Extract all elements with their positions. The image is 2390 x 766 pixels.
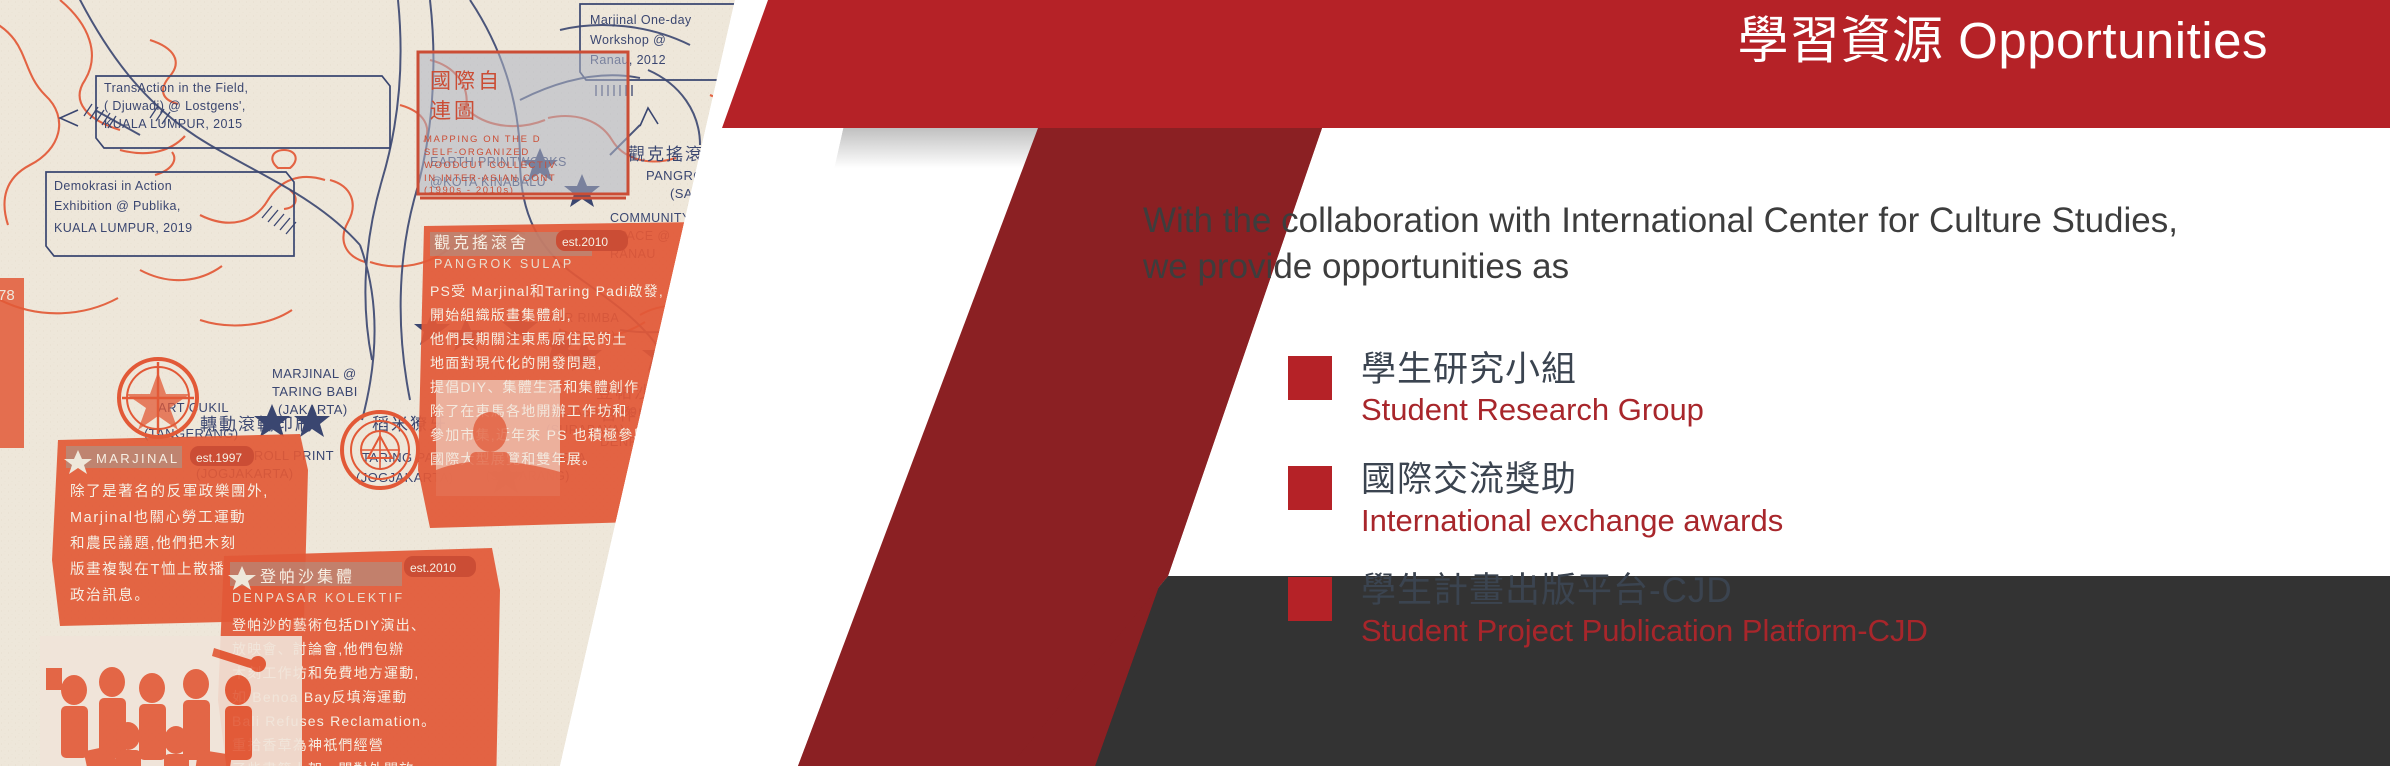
- list-item-label-en: International exchange awards: [1361, 502, 1783, 539]
- intro-line-1: With the collaboration with Internationa…: [1143, 198, 2323, 244]
- intro-paragraph: With the collaboration with Internationa…: [1143, 198, 2323, 290]
- page-title: 學習資源 Opportunities: [1737, 12, 2268, 71]
- list-item-label-zh: 學生研究小組: [1361, 350, 1704, 389]
- list-item-label-zh: 學生計畫出版平台-CJD: [1361, 571, 1928, 610]
- list-item-label-zh: 國際交流獎助: [1361, 460, 1783, 499]
- chevron-shadow-right: [2330, 128, 2390, 566]
- map-collage-image: TransAction in the Field, ( Djuwadi) @ L…: [0, 0, 900, 766]
- opportunities-list: 學生研究小組 Student Research Group 國際交流獎助 Int…: [1288, 350, 2288, 681]
- hand-drawn-map-illustration: TransAction in the Field, ( Djuwadi) @ L…: [0, 0, 900, 766]
- bullet-square-icon: [1288, 356, 1332, 400]
- bullet-square-icon: [1288, 466, 1332, 510]
- list-item-texts: 學生計畫出版平台-CJD Student Project Publication…: [1361, 571, 1928, 649]
- header-band-shadow: [778, 128, 2390, 168]
- svg-text:(BALI): (BALI): [640, 454, 679, 469]
- list-item[interactable]: 學生研究小組 Student Research Group: [1288, 350, 2288, 428]
- list-item-texts: 國際交流獎助 International exchange awards: [1361, 460, 1783, 538]
- chevron-shadow: [848, 540, 1130, 766]
- list-item-label-en: Student Research Group: [1361, 391, 1704, 428]
- list-item-texts: 學生研究小組 Student Research Group: [1361, 350, 1704, 428]
- list-item[interactable]: 國際交流獎助 International exchange awards: [1288, 460, 2288, 538]
- slide-canvas: TransAction in the Field, ( Djuwadi) @ L…: [0, 0, 2390, 766]
- bullet-square-icon: [1288, 577, 1332, 621]
- list-item[interactable]: 學生計畫出版平台-CJD Student Project Publication…: [1288, 571, 2288, 649]
- list-item-label-en: Student Project Publication Platform-CJD: [1361, 612, 1928, 649]
- intro-line-2: we provide opportunities as: [1143, 244, 2323, 290]
